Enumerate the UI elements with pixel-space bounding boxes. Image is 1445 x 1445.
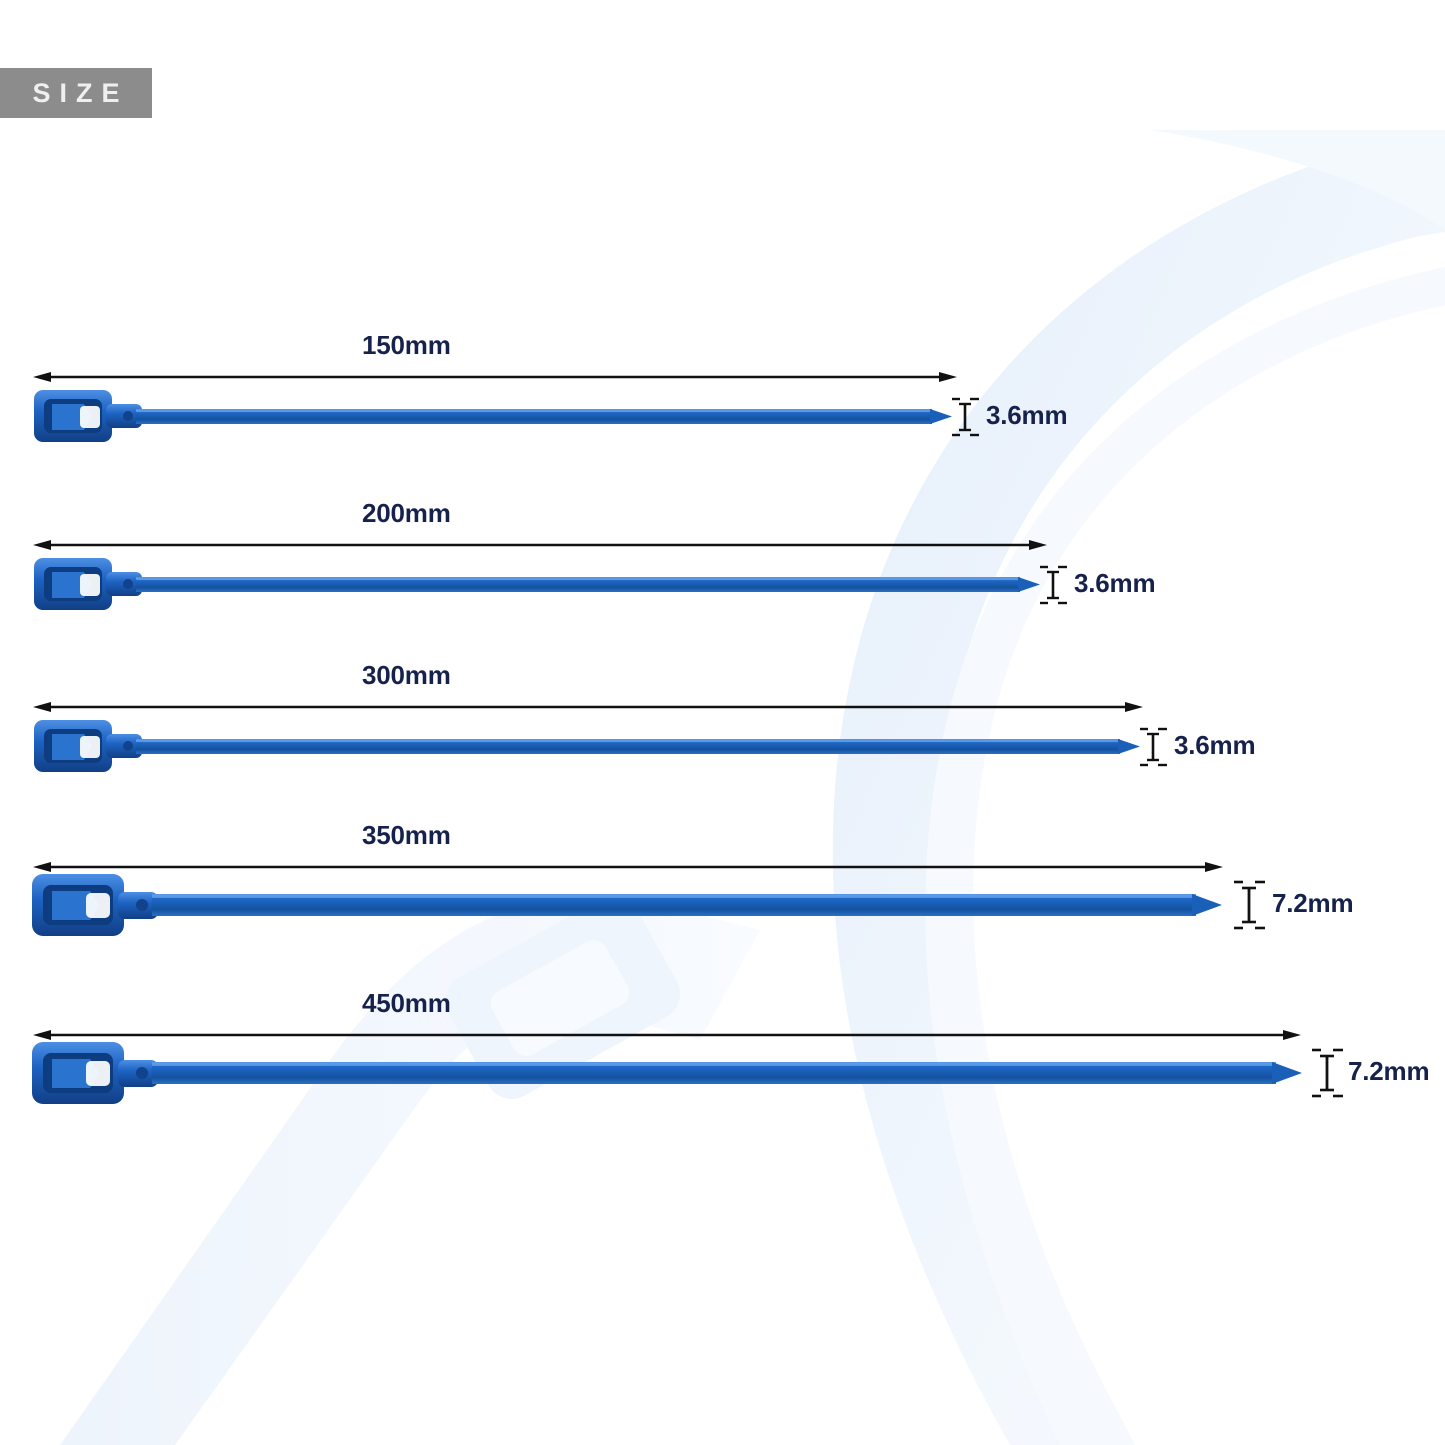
width-label-200mm: 3.6mm (1074, 568, 1155, 599)
length-arrow-150mm (25, 370, 965, 384)
size-chart-image: SIZE 150mm (0, 0, 1445, 1445)
length-label-450mm: 450mm (362, 988, 451, 1019)
size-badge-label: SIZE (23, 80, 128, 107)
width-label-350mm: 7.2mm (1272, 888, 1353, 919)
cable-tie-450mm (30, 1038, 1310, 1112)
length-label-200mm: 200mm (362, 498, 451, 529)
length-label-150mm: 150mm (362, 330, 451, 361)
length-label-300mm: 300mm (362, 660, 451, 691)
cable-tie-200mm (32, 554, 1050, 616)
width-caliper-300mm (1136, 720, 1172, 774)
width-caliper-200mm (1036, 558, 1072, 612)
length-arrow-300mm (25, 700, 1151, 714)
cable-tie-350mm (30, 870, 1230, 944)
cable-tie-150mm (32, 386, 962, 448)
cable-tie-300mm (32, 716, 1150, 778)
width-caliper-450mm (1308, 1040, 1348, 1106)
length-arrow-200mm (25, 538, 1055, 552)
size-badge: SIZE (0, 68, 152, 118)
width-label-150mm: 3.6mm (986, 400, 1067, 431)
width-caliper-150mm (948, 390, 984, 444)
width-caliper-350mm (1230, 872, 1270, 938)
width-label-300mm: 3.6mm (1174, 730, 1255, 761)
width-label-450mm: 7.2mm (1348, 1056, 1429, 1087)
length-label-350mm: 350mm (362, 820, 451, 851)
